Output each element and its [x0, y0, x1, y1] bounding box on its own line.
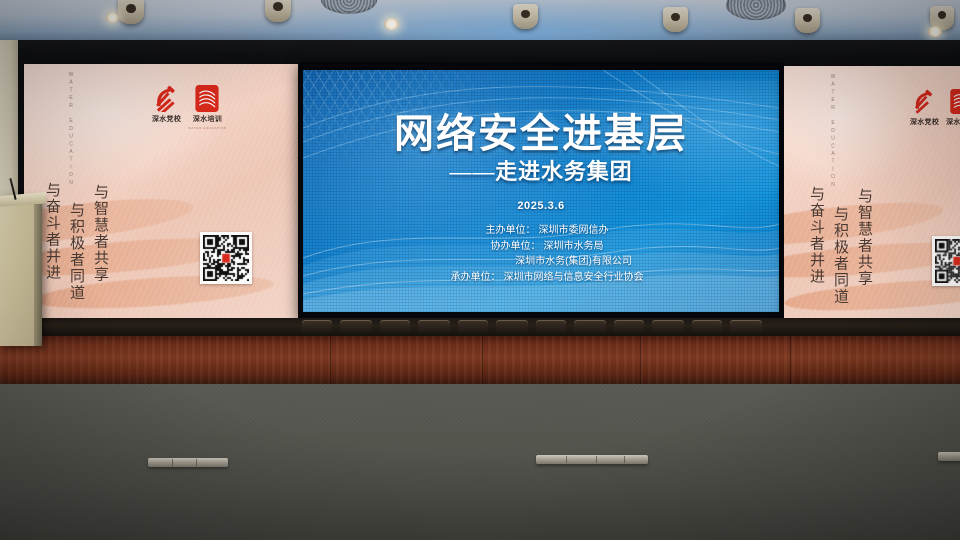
banner-slogan-1: 与智慧者共享: [854, 188, 875, 287]
stage-wood-panel: [0, 336, 960, 384]
banner-logo-group: 深水党校 深水培训 WATER EDUCATION: [152, 85, 227, 130]
chair-back: [496, 320, 528, 332]
right-banner: WATER EDUCATION 与智慧者共享 与积极者同道 与奋斗者并进 深水党: [784, 66, 960, 318]
organizer-value: 深圳市水务局: [544, 239, 604, 255]
banner-latin-vertical: WATER EDUCATION: [68, 72, 74, 188]
organizer-label: 主办单位：: [474, 223, 539, 239]
carpet-texture: [0, 384, 960, 540]
party-school-logo-label: 深水党校: [910, 117, 939, 127]
organizer-value: 深圳市水务(集团)有限公司: [515, 254, 632, 270]
chair-back: [730, 320, 762, 332]
water-training-logo: 深水培训: [946, 88, 960, 127]
ceiling-downlight-icon: [106, 12, 119, 23]
ceiling-downlight-icon: [384, 18, 399, 30]
party-school-logo: 深水党校: [910, 88, 939, 127]
lectern-edge: [34, 204, 42, 346]
floor-cable-ramp: [148, 458, 228, 467]
qr-code[interactable]: [932, 236, 960, 286]
qr-code[interactable]: [200, 232, 252, 284]
water-wave-icon: [194, 85, 221, 112]
panel-seam: [790, 336, 791, 384]
hammer-sickle-icon: [911, 88, 938, 115]
water-training-logo-label: 深水培训: [946, 117, 960, 127]
conference-hall-scene: WATER EDUCATION 与智慧者共享 与积极者同道 与奋斗者并进: [0, 0, 960, 540]
organizer-row: 协办单位： 深圳市水务局: [439, 239, 644, 255]
panel-seam: [330, 336, 331, 384]
organizer-label: 承办单位：: [439, 270, 504, 286]
wood-grain: [0, 336, 960, 384]
left-banner: WATER EDUCATION 与智慧者共享 与积极者同道 与奋斗者并进: [24, 64, 298, 318]
organizer-label: [450, 254, 515, 270]
chair-row: [0, 318, 960, 336]
party-school-logo: 深水党校: [152, 85, 181, 124]
chair-back: [574, 320, 606, 332]
water-training-logo-sub: WATER EDUCATION: [188, 126, 227, 130]
chair-back: [340, 320, 372, 332]
floor-cable-ramp: [938, 452, 960, 461]
ceiling-spotlight-icon: [795, 8, 820, 33]
organizer-row: 深圳市水务(集团)有限公司: [439, 254, 644, 270]
banner-slogan-3: 与奋斗者并进: [806, 186, 827, 285]
floor-cable-ramp: [536, 455, 648, 464]
banner-logo-group: 深水党校 深水培训: [910, 88, 960, 127]
organizer-list: 主办单位： 深圳市委网信办 协办单位： 深圳市水务局 深圳市水务(集团)有限公司…: [439, 223, 644, 285]
banner-slogan-2: 与积极者同道: [830, 206, 851, 305]
banner-latin-vertical: WATER EDUCATION: [830, 74, 836, 190]
organizer-value: 深圳市网络与信息安全行业协会: [504, 270, 644, 286]
panel-seam: [482, 336, 483, 384]
party-school-logo-label: 深水党校: [152, 114, 181, 124]
chair-back: [692, 320, 722, 332]
chair-back: [536, 320, 566, 332]
chair-back: [652, 320, 684, 332]
banner-slogan-2: 与积极者同道: [66, 202, 87, 301]
ceiling-spotlight-icon: [513, 4, 538, 29]
chair-back: [458, 320, 488, 332]
water-training-logo-label: 深水培训: [193, 114, 222, 124]
organizer-value: 深圳市委网信办: [539, 223, 609, 239]
organizer-row: 主办单位： 深圳市委网信办: [439, 223, 644, 239]
banner-slogan-1: 与智慧者共享: [90, 184, 111, 283]
water-wave-icon: [947, 88, 960, 115]
organizer-row: 承办单位： 深圳市网络与信息安全行业协会: [439, 270, 644, 286]
panel-seam: [640, 336, 641, 384]
ceiling-spotlight-icon: [265, 0, 291, 22]
lectern: [0, 196, 42, 346]
led-screen: 网络安全进基层 ——走进水务集团 2025.3.6 主办单位： 深圳市委网信办 …: [303, 70, 779, 312]
ceiling-spotlight-icon: [118, 0, 144, 24]
presentation-subtitle: ——走进水务集团: [449, 161, 632, 183]
stage-floor: [0, 384, 960, 540]
hammer-sickle-icon: [153, 85, 180, 112]
presentation-date: 2025.3.6: [517, 200, 564, 212]
ceiling-spotlight-icon: [663, 7, 688, 32]
chair-back: [302, 320, 332, 332]
organizer-label: 协办单位：: [479, 239, 544, 255]
chair-back: [614, 320, 644, 332]
led-screen-content: 网络安全进基层 ——走进水务集团 2025.3.6 主办单位： 深圳市委网信办 …: [303, 70, 779, 312]
presentation-title: 网络安全进基层: [394, 114, 688, 154]
water-training-logo: 深水培训 WATER EDUCATION: [188, 85, 227, 130]
chair-back: [380, 320, 410, 332]
ceiling-downlight-icon: [928, 26, 942, 37]
chair-back: [418, 320, 450, 332]
